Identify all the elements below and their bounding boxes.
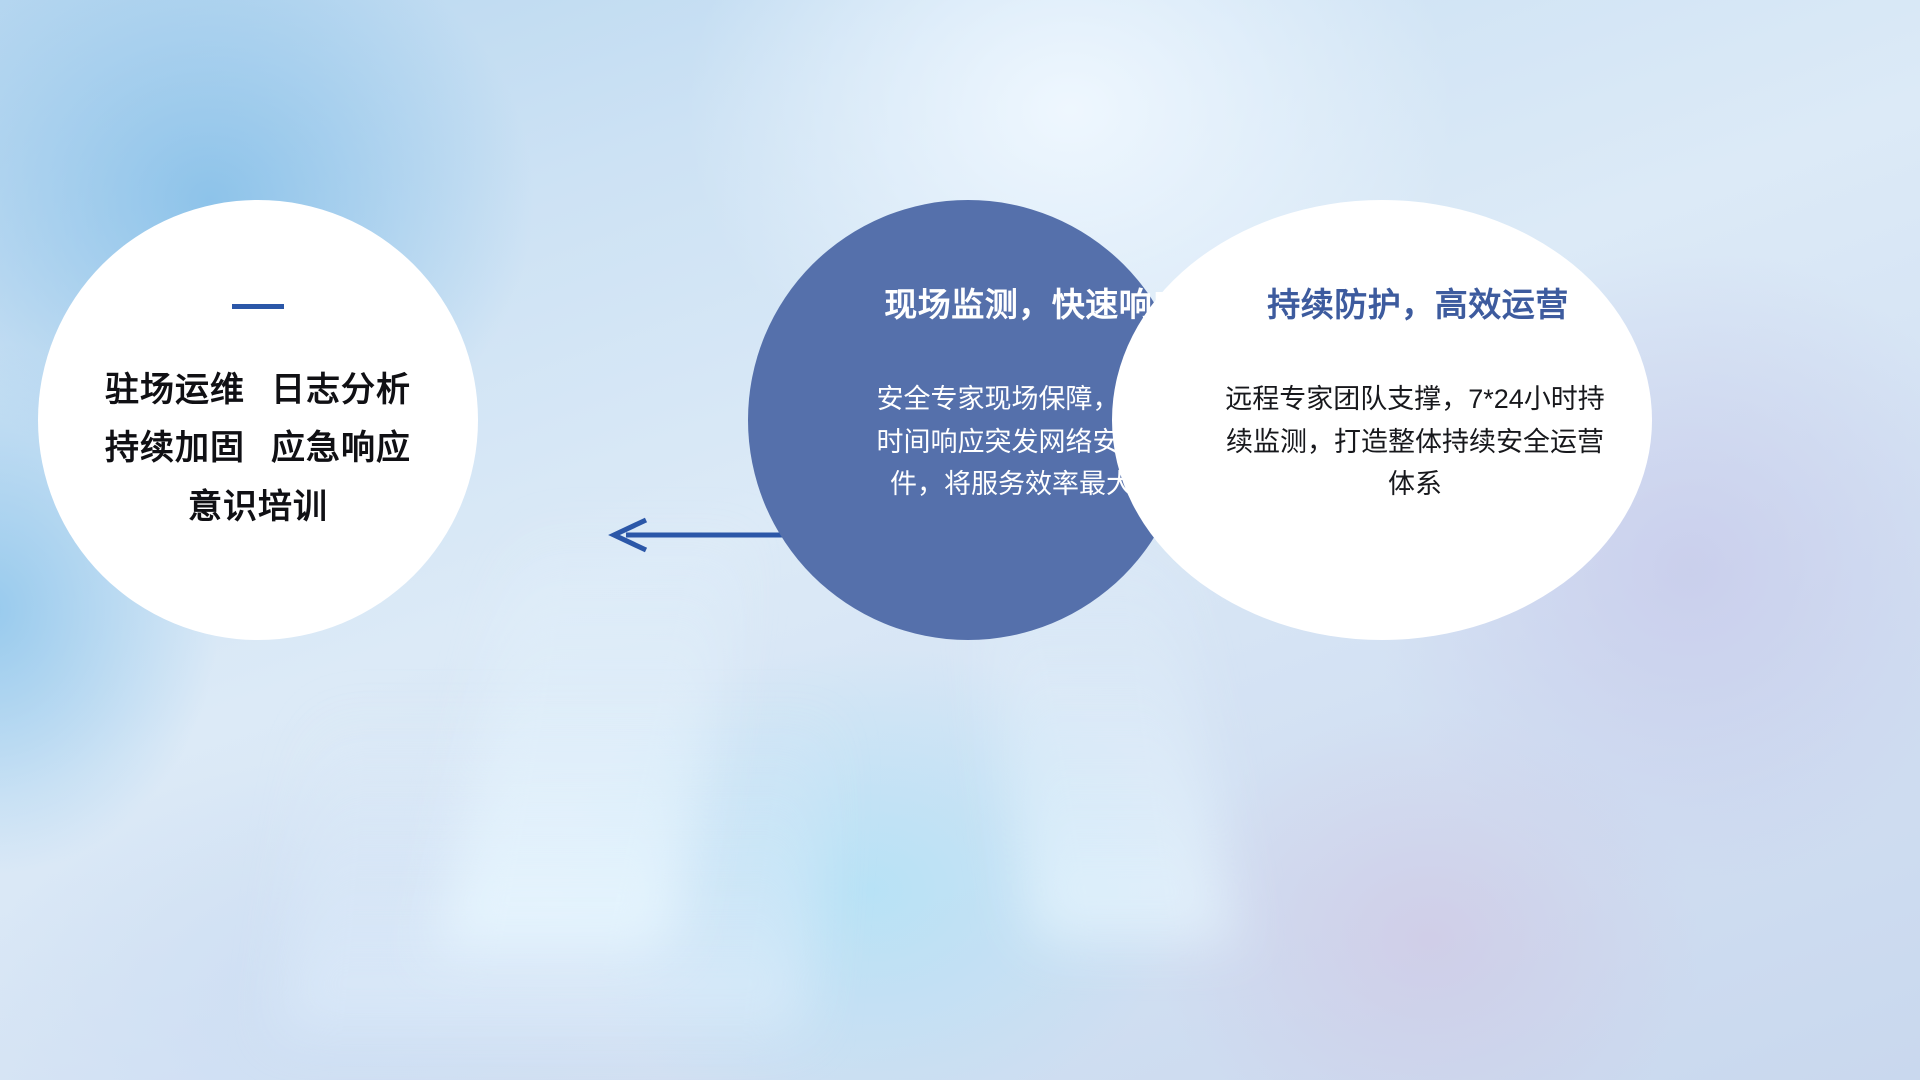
capability-row: 意识培训 <box>105 478 411 536</box>
capability-item: 日志分析 <box>271 371 411 409</box>
background-glow-bottom-left <box>0 660 840 1080</box>
divider-rule <box>232 304 284 309</box>
capability-row: 驻场运维日志分析 <box>105 361 411 419</box>
capability-circle[interactable]: 驻场运维日志分析 持续加固应急响应 意识培训 <box>38 200 478 640</box>
capability-list: 驻场运维日志分析 持续加固应急响应 意识培训 <box>105 361 411 536</box>
continuous-body: 远程专家团队支撑，7*24小时持续监测，打造整体持续安全运营体系 <box>1215 378 1615 506</box>
capability-row: 持续加固应急响应 <box>105 419 411 477</box>
continuous-operations-circle[interactable]: 持续防护，高效运营 远程专家团队支撑，7*24小时持续监测，打造整体持续安全运营… <box>1112 200 1652 640</box>
background-light-streak-center <box>438 520 752 950</box>
capability-item: 持续加固 <box>105 429 245 467</box>
slide-canvas: 驻场运维日志分析 持续加固应急响应 意识培训 现场监测，快速响应 安全专家现场保… <box>0 0 1920 1080</box>
background-light-streak-lower <box>283 700 838 1030</box>
continuous-content: 持续防护，高效运营 远程专家团队支撑，7*24小时持续监测，打造整体持续安全运营… <box>1112 200 1652 640</box>
capability-item: 应急响应 <box>271 429 411 467</box>
continuous-title: 持续防护，高效运营 <box>1267 278 1569 326</box>
capability-item: 驻场运维 <box>105 371 245 409</box>
background-glow-bottom-right <box>1050 620 1810 1080</box>
capability-item: 意识培训 <box>188 488 328 526</box>
